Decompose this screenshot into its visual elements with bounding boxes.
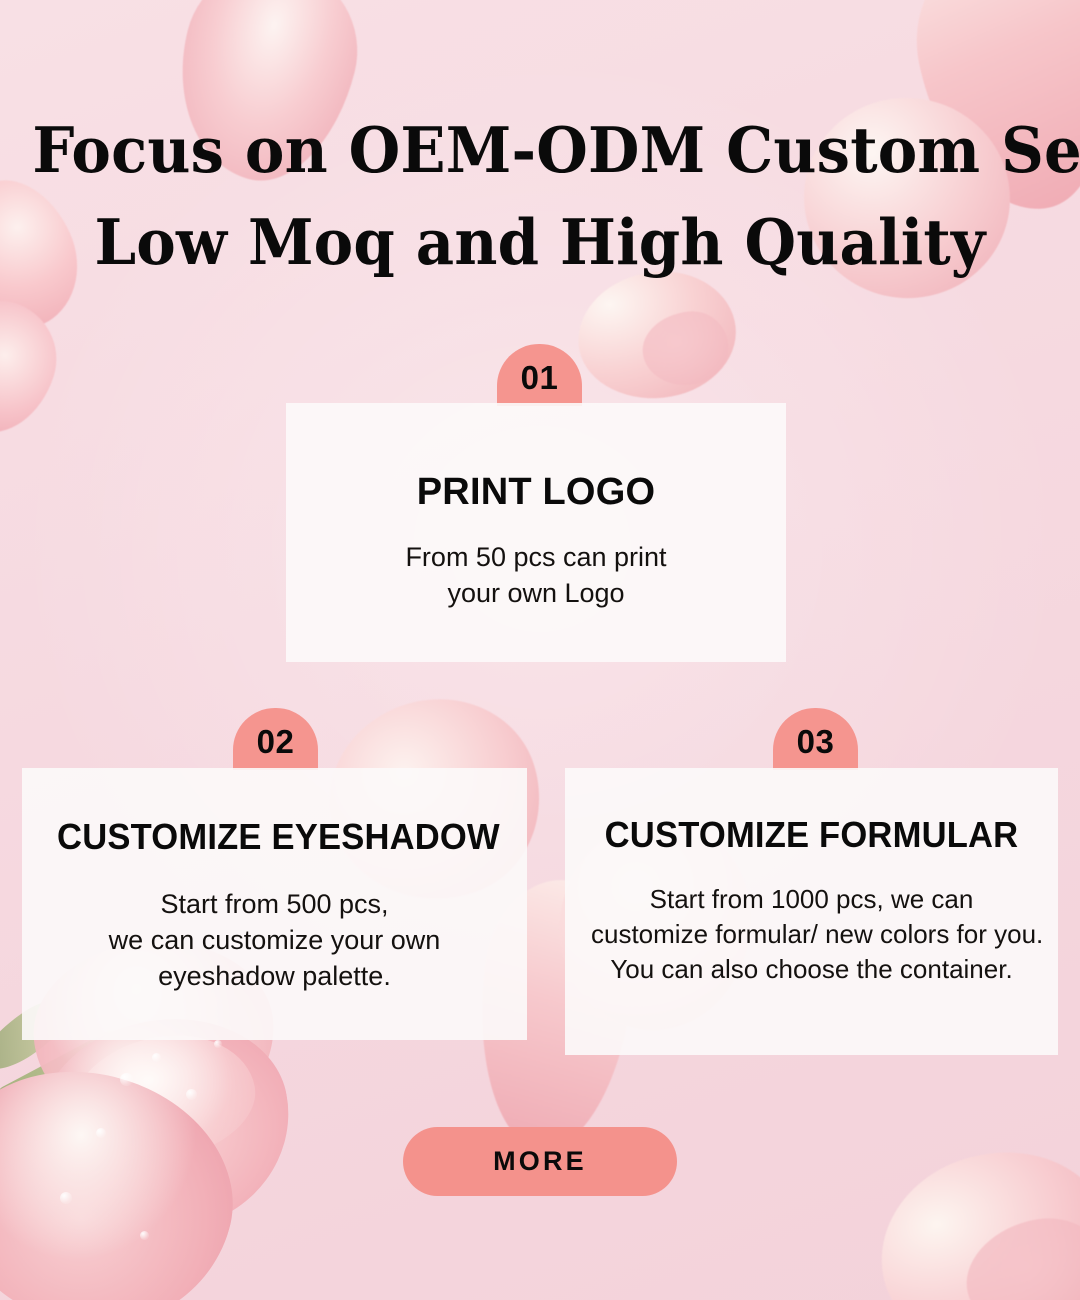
step-badge-01: 01 — [497, 344, 582, 406]
more-button[interactable]: MORE — [403, 1127, 677, 1196]
page-title: Focus on OEM-ODM Custom Services Low Moq… — [32, 104, 1047, 288]
feature-card-customize-formular[interactable]: CUSTOMIZE FORMULAR Start from 1000 pcs, … — [565, 768, 1058, 1055]
card-description-line: Start from 1000 pcs, we can — [591, 882, 1032, 917]
feature-card-print-logo[interactable]: PRINT LOGO From 50 pcs can print your ow… — [286, 403, 786, 662]
card-description-line: we can customize your own — [48, 922, 501, 958]
card-description-line: customize formular/ new colors for you. — [591, 917, 1032, 952]
card-description: Start from 1000 pcs, we can customize fo… — [591, 882, 1032, 987]
step-badge-02: 02 — [233, 708, 318, 770]
promo-banner: Focus on OEM-ODM Custom Services Low Moq… — [0, 0, 1080, 1300]
headline-line-2: Low Moq and High Quality — [32, 196, 1047, 288]
card-description-line: From 50 pcs can print — [312, 539, 760, 575]
card-description-line: your own Logo — [312, 575, 760, 611]
card-title: CUSTOMIZE FORMULAR — [600, 814, 1023, 856]
feature-card-customize-eyeshadow[interactable]: CUSTOMIZE EYESHADOW Start from 500 pcs, … — [22, 768, 527, 1040]
card-description-line: eyeshadow palette. — [48, 958, 501, 994]
headline-line-1: Focus on OEM-ODM Custom Services — [32, 104, 1047, 196]
card-title: CUSTOMIZE EYESHADOW — [57, 816, 492, 858]
step-badge-03: 03 — [773, 708, 858, 770]
card-title: PRINT LOGO — [312, 471, 760, 514]
card-description-line: Start from 500 pcs, — [48, 886, 501, 922]
card-description: From 50 pcs can print your own Logo — [312, 539, 760, 611]
card-description-line: You can also choose the container. — [591, 952, 1032, 987]
card-description: Start from 500 pcs, we can customize you… — [48, 886, 501, 994]
